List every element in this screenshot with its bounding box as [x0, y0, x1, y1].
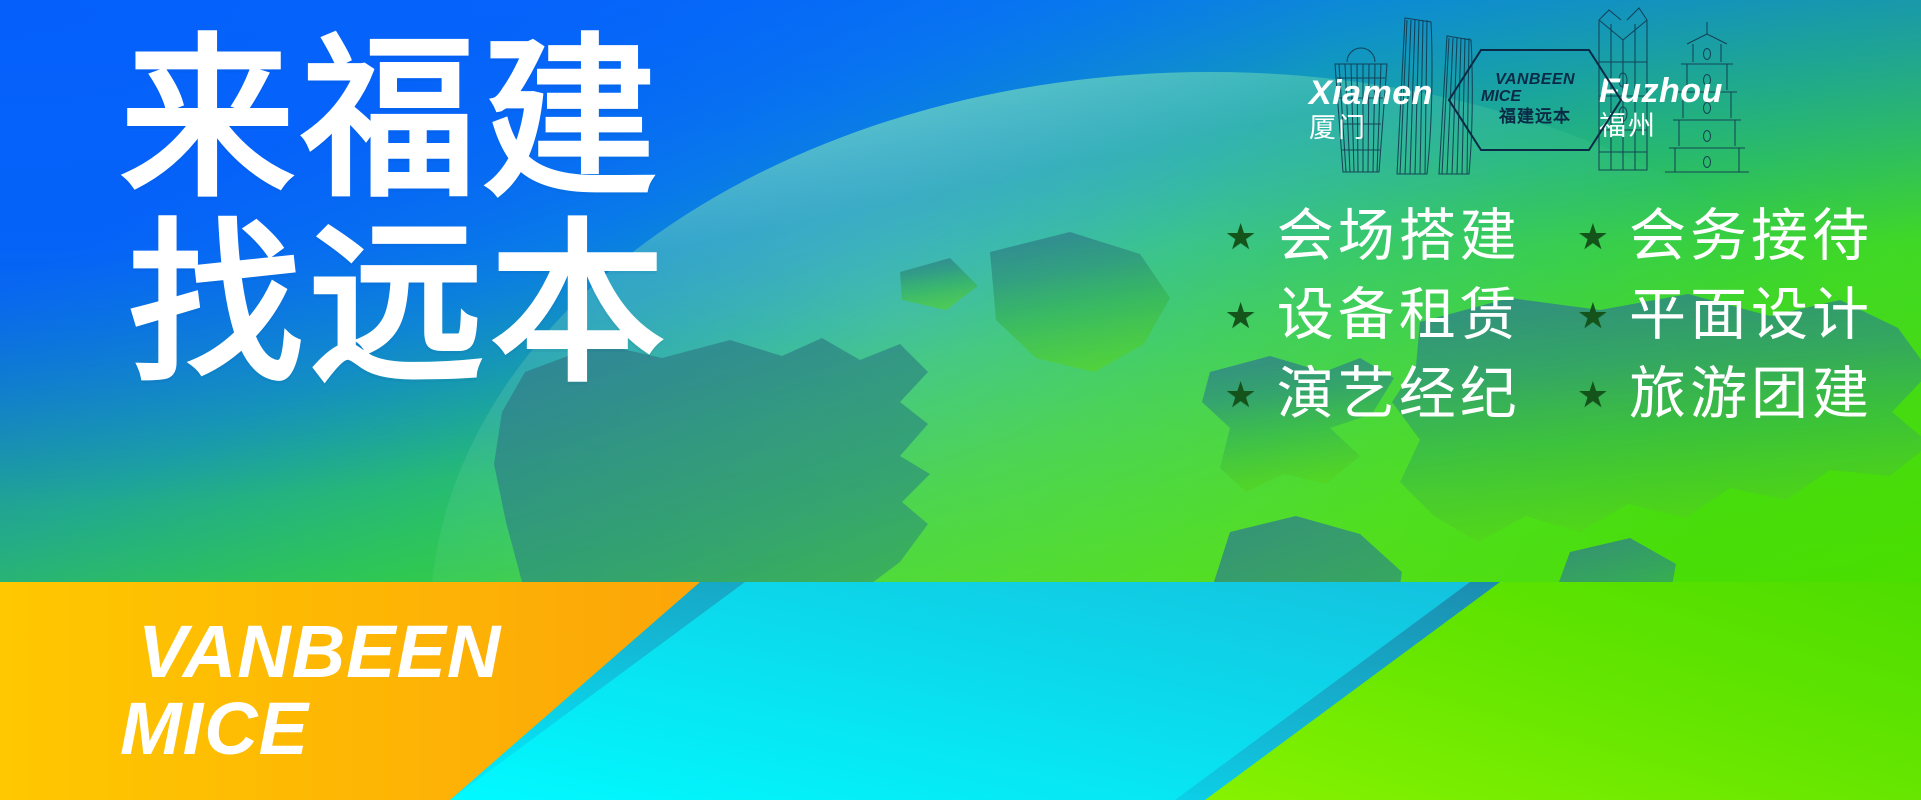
title-line-1: 来福建	[120, 34, 671, 207]
service-label: 会场搭建	[1277, 208, 1521, 265]
title-line-2: 找远本	[128, 219, 671, 392]
service-label: 旅游团建	[1629, 366, 1873, 423]
star-icon: ★	[1224, 298, 1256, 334]
city-name-en: Xiamen	[1309, 76, 1433, 110]
service-item[interactable]: ★ 会场搭建	[1224, 208, 1520, 265]
service-item[interactable]: ★ 平面设计	[1577, 287, 1873, 344]
service-item[interactable]: ★ 旅游团建	[1577, 366, 1873, 423]
city-name-cn: 厦门	[1309, 113, 1433, 143]
service-item[interactable]: ★ 会务接待	[1577, 208, 1873, 265]
service-label: 平面设计	[1629, 287, 1873, 344]
star-icon: ★	[1224, 377, 1256, 413]
star-icon: ★	[1577, 298, 1609, 334]
brand-line-2: MICE	[120, 693, 501, 766]
hex-logo-line-3: 福建远本	[1499, 107, 1571, 127]
star-icon: ★	[1224, 219, 1256, 255]
service-list: ★ 会场搭建 ★ 会务接待 ★ 设备租赁 ★ 平面设计 ★ 演艺经纪 ★ 旅游团…	[1224, 208, 1873, 423]
hero-title: 来福建 找远本	[120, 34, 671, 393]
hex-logo-line-2: MICE	[1481, 89, 1521, 105]
promo-banner: 来福建 找远本 ★ 会场搭建 ★ 会务接待 ★ 设备租赁 ★ 平面设计 ★	[0, 0, 1921, 800]
vanbeen-hex-logo[interactable]: VANBEEN MICE 福建远本	[1447, 48, 1623, 152]
service-label: 演艺经纪	[1277, 366, 1521, 423]
service-label: 会务接待	[1629, 208, 1873, 265]
hero-section: 来福建 找远本 ★ 会场搭建 ★ 会务接待 ★ 设备租赁 ★ 平面设计 ★	[0, 0, 1921, 582]
service-item[interactable]: ★ 设备租赁	[1224, 287, 1520, 344]
service-item[interactable]: ★ 演艺经纪	[1224, 366, 1520, 423]
bottom-band: VANBEEN MICE	[0, 582, 1921, 800]
city-landmark-strip: Xiamen 厦门 Fuzhou 福州 VANBEEN MICE 福建远本	[1341, 2, 1781, 177]
service-label: 设备租赁	[1277, 287, 1521, 344]
brand-line-1: VANBEEN	[138, 616, 501, 689]
star-icon: ★	[1577, 377, 1609, 413]
star-icon: ★	[1577, 219, 1609, 255]
brand-wordmark: VANBEEN MICE	[138, 616, 501, 765]
hex-logo-line-1: VANBEEN	[1495, 72, 1575, 88]
city-label-xiamen: Xiamen 厦门	[1309, 76, 1433, 143]
